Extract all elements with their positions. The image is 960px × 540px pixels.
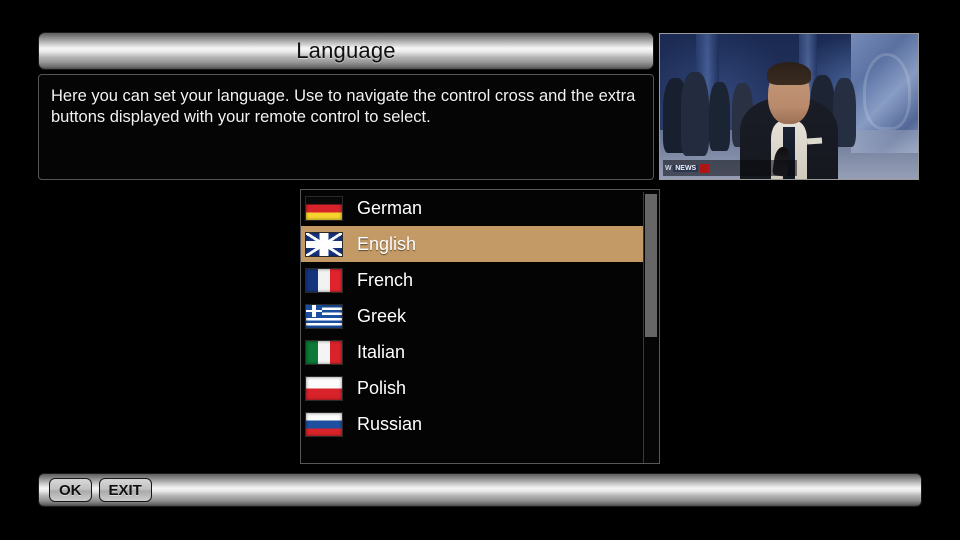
language-label: Russian: [357, 414, 422, 435]
de-flag-icon: [305, 196, 343, 221]
language-list-item[interactable]: Polish: [301, 370, 643, 406]
fr-flag-icon: [305, 268, 343, 293]
broadcaster-logo-bug: W NEWS: [663, 160, 797, 176]
language-list-item[interactable]: Russian: [301, 406, 643, 442]
exit-button[interactable]: EXIT: [99, 478, 152, 502]
language-label: Polish: [357, 378, 406, 399]
language-list-item[interactable]: French: [301, 262, 643, 298]
pl-flag-icon: [305, 376, 343, 401]
language-label: Italian: [357, 342, 405, 363]
logo-text-news: NEWS: [673, 165, 698, 172]
ru-flag-icon: [305, 412, 343, 437]
tv-settings-screen: Language Here you can set your language.…: [0, 0, 960, 540]
button-bar: OK EXIT: [38, 473, 922, 507]
scrollbar-track[interactable]: [643, 192, 657, 463]
video-preview[interactable]: W NEWS: [659, 33, 919, 180]
language-label: German: [357, 198, 422, 219]
ok-button[interactable]: OK: [49, 478, 92, 502]
language-label: English: [357, 234, 416, 255]
language-list-item[interactable]: Italian: [301, 334, 643, 370]
video-crowd-person: [681, 72, 709, 156]
it-flag-icon: [305, 340, 343, 365]
language-label: Greek: [357, 306, 406, 327]
language-list-item[interactable]: Greek: [301, 298, 643, 334]
language-list-item[interactable]: English: [301, 226, 643, 262]
help-text-box: Here you can set your language. Use to n…: [38, 74, 654, 180]
logo-text-w: W: [665, 165, 671, 172]
gb-flag-icon: [305, 232, 343, 257]
gr-flag-icon: [305, 304, 343, 329]
scrollbar-thumb[interactable]: [645, 194, 657, 337]
language-list-panel[interactable]: GermanEnglishFrenchGreekItalianPolishRus…: [300, 189, 660, 464]
logo-red-mark: [700, 164, 709, 173]
page-title: Language: [296, 38, 395, 64]
language-label: French: [357, 270, 413, 291]
video-crowd-person: [709, 82, 730, 152]
language-list-item[interactable]: German: [301, 190, 643, 226]
video-reporter-hair: [767, 62, 811, 85]
language-list: GermanEnglishFrenchGreekItalianPolishRus…: [301, 190, 643, 442]
title-bar: Language: [38, 32, 654, 70]
help-text: Here you can set your language. Use to n…: [51, 86, 641, 128]
